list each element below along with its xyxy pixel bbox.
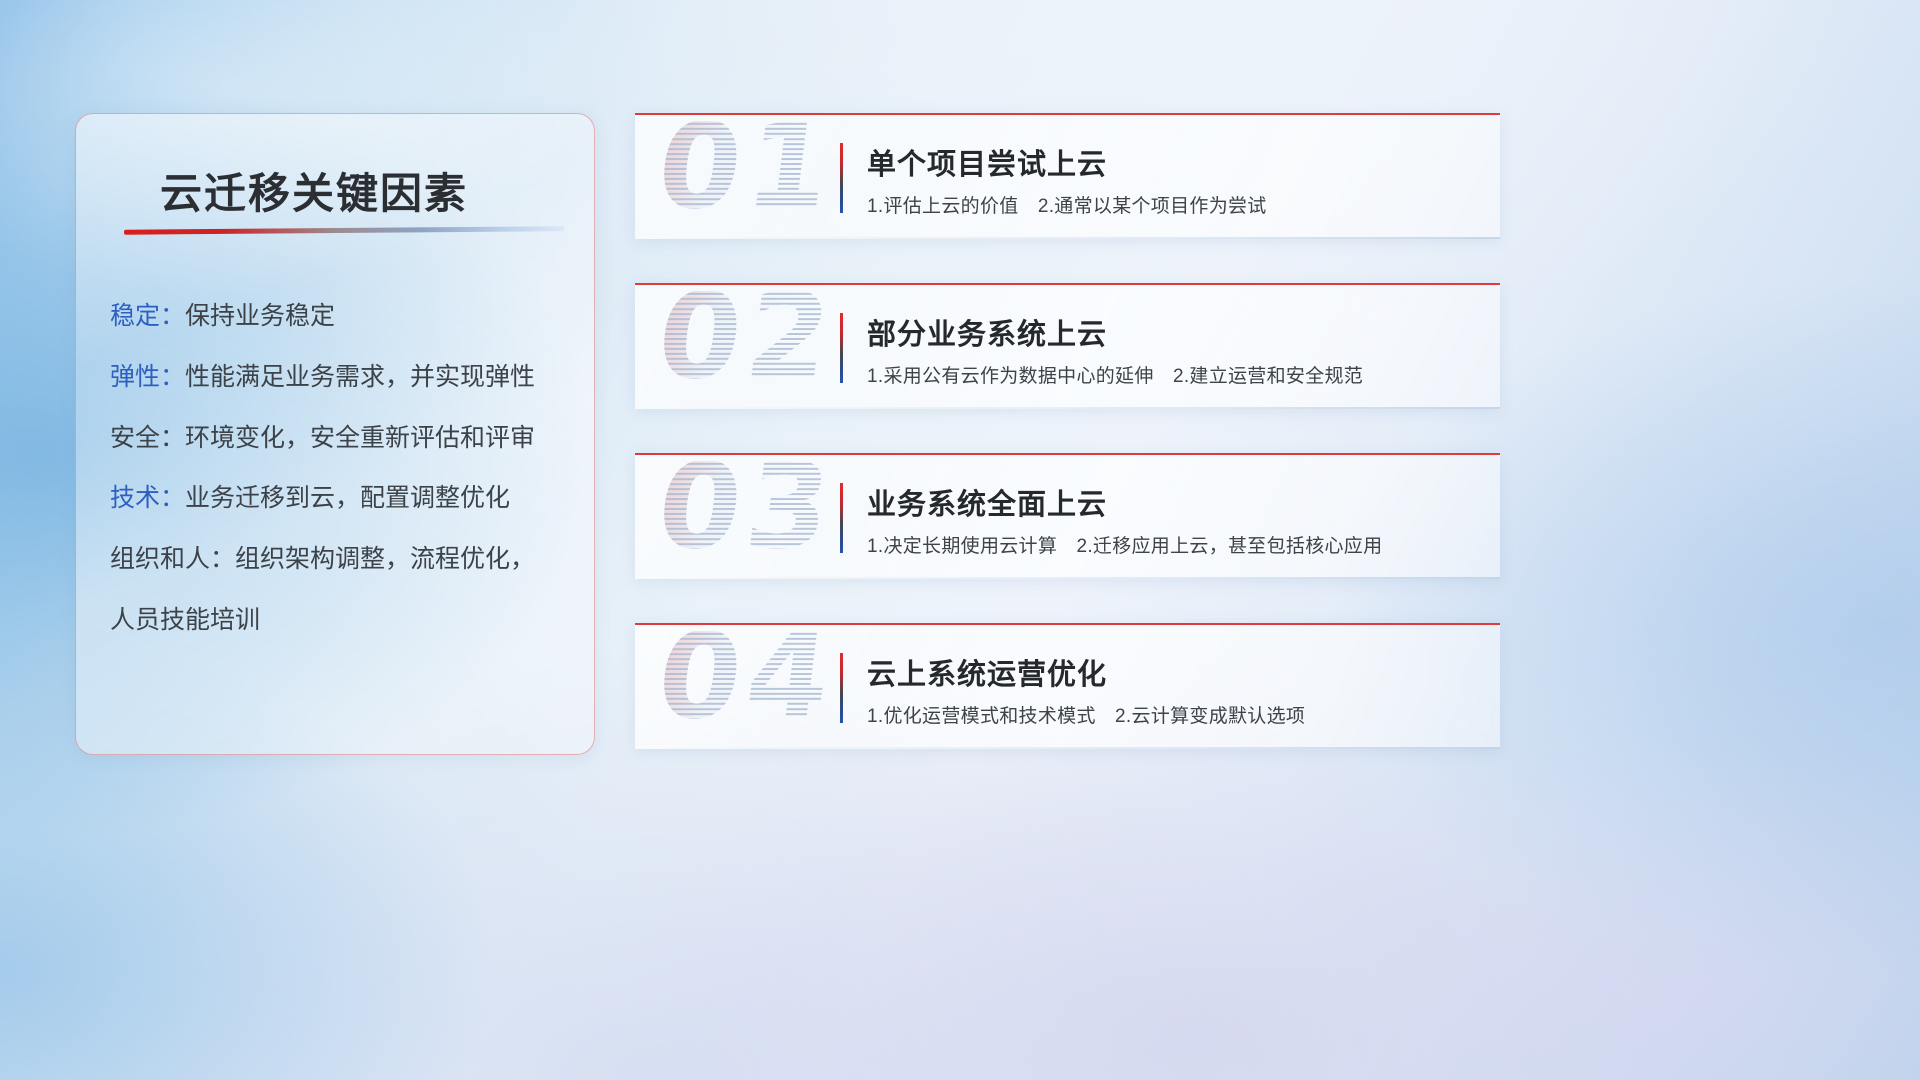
step-number: 04	[659, 631, 834, 735]
step-title: 业务系统全面上云	[867, 481, 1107, 523]
step-accent-bar	[840, 143, 843, 213]
step-number-watermark: 02	[659, 291, 834, 403]
list-item-text: 组织架构调整，流程优化，	[235, 545, 535, 573]
migration-steps-stack: 01 单个项目尝试上云 1.评估上云的价值 2.通常以某个项目作为尝试 02 部…	[635, 113, 1500, 749]
list-item-label: 安全：	[110, 424, 185, 452]
list-item-label: 技术：	[110, 484, 185, 512]
list-item: 组织和人：组织架构调整，流程优化，	[110, 543, 580, 577]
page-title: 云迁移关键因素	[160, 160, 468, 221]
step-number-watermark: 03	[659, 461, 834, 573]
list-item: 安全：环境变化，安全重新评估和评审	[110, 422, 580, 456]
list-item-text: 性能满足业务需求，并实现弹性	[185, 363, 535, 391]
step-card-01[interactable]: 01 单个项目尝试上云 1.评估上云的价值 2.通常以某个项目作为尝试	[635, 113, 1500, 239]
slide-content: 云迁移关键因素 稳定：保持业务稳定 弹性：性能满足业务需求，并实现弹性 安全：环…	[0, 0, 1920, 1080]
title-underline-accent	[124, 226, 564, 234]
key-factors-list: 稳定：保持业务稳定 弹性：性能满足业务需求，并实现弹性 安全：环境变化，安全重新…	[110, 300, 580, 638]
list-item-label: 弹性：	[110, 363, 185, 391]
step-number-watermark: 04	[659, 631, 834, 743]
step-accent-bar	[840, 483, 843, 553]
list-item: 稳定：保持业务稳定	[110, 300, 580, 334]
list-item-label: 组织和人：	[110, 545, 235, 573]
step-accent-bar	[840, 653, 843, 723]
step-title: 云上系统运营优化	[867, 651, 1107, 693]
step-accent-bar	[840, 313, 843, 383]
step-subtitle: 1.评估上云的价值 2.通常以某个项目作为尝试	[867, 191, 1267, 218]
step-number-watermark: 01	[659, 121, 834, 233]
list-item-text: 保持业务稳定	[185, 302, 335, 330]
list-item: 弹性：性能满足业务需求，并实现弹性	[110, 361, 580, 395]
step-subtitle: 1.采用公有云作为数据中心的延伸 2.建立运营和安全规范	[867, 361, 1363, 388]
step-subtitle: 1.优化运营模式和技术模式 2.云计算变成默认选项	[867, 701, 1305, 728]
step-card-04[interactable]: 04 云上系统运营优化 1.优化运营模式和技术模式 2.云计算变成默认选项	[635, 623, 1500, 749]
step-card-02[interactable]: 02 部分业务系统上云 1.采用公有云作为数据中心的延伸 2.建立运营和安全规范	[635, 283, 1500, 409]
list-item-text: 业务迁移到云，配置调整优化	[185, 484, 510, 512]
step-number: 03	[659, 461, 834, 565]
list-item: 人员技能培训	[110, 604, 580, 638]
key-factors-card: 云迁移关键因素 稳定：保持业务稳定 弹性：性能满足业务需求，并实现弹性 安全：环…	[75, 113, 595, 755]
step-title: 部分业务系统上云	[867, 311, 1107, 353]
list-item-text: 人员技能培训	[110, 606, 260, 634]
step-subtitle: 1.决定长期使用云计算 2.迁移应用上云，甚至包括核心应用	[867, 531, 1382, 558]
step-title: 单个项目尝试上云	[867, 141, 1107, 183]
list-item-label: 稳定：	[110, 302, 185, 330]
list-item-text: 环境变化，安全重新评估和评审	[185, 424, 535, 452]
list-item: 技术：业务迁移到云，配置调整优化	[110, 482, 580, 516]
step-number: 02	[659, 291, 834, 395]
step-card-03[interactable]: 03 业务系统全面上云 1.决定长期使用云计算 2.迁移应用上云，甚至包括核心应…	[635, 453, 1500, 579]
step-number: 01	[659, 121, 834, 225]
